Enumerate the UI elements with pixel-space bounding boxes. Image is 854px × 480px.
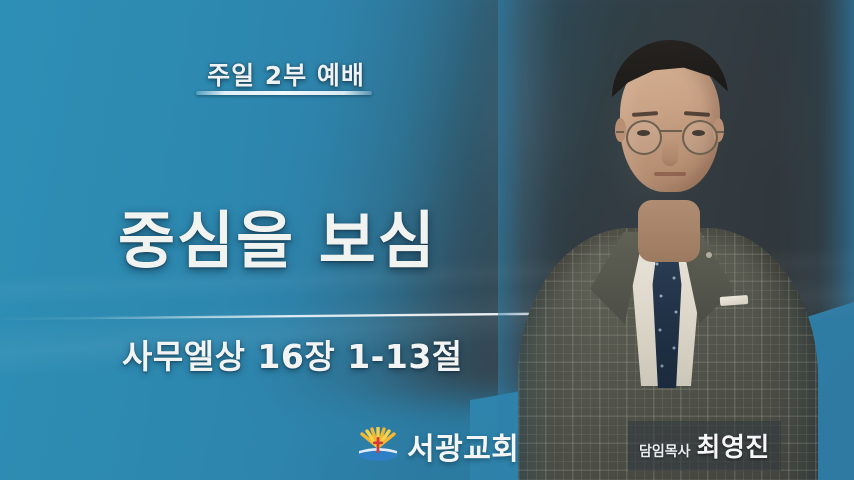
- glasses-temple-left: [616, 131, 624, 133]
- lapel-pin-icon: [706, 252, 712, 258]
- glasses-temple-right: [716, 131, 724, 133]
- speaker-neck: [638, 200, 700, 262]
- speaker-mouth: [654, 172, 686, 176]
- speaker-portrait: [498, 0, 854, 480]
- glasses-lens-right: [682, 120, 718, 155]
- speaker-name-band: 담임목사 최영진: [628, 421, 781, 471]
- sunrise-cross-emblem-icon: [356, 427, 400, 465]
- church-name: 서광교회: [407, 424, 519, 468]
- scripture-reference: 사무엘상 16장 1-13절: [122, 330, 463, 378]
- speaker-name: 최영진: [697, 427, 770, 464]
- service-label: 주일 2부 예배: [196, 56, 376, 92]
- pocket-square: [720, 295, 749, 306]
- service-label-underline: [196, 91, 372, 95]
- speaker-role: 담임목사: [639, 441, 691, 461]
- glasses-bridge: [660, 130, 682, 132]
- church-logo: 서광교회: [356, 424, 519, 468]
- glasses-lens-left: [626, 120, 662, 155]
- sermon-title: 중심을 보심: [118, 190, 437, 280]
- speaker-nose: [662, 140, 678, 166]
- sermon-title-slide: 주일 2부 예배 중심을 보심 사무엘상 16장 1-13절 서광교회 담임목사…: [0, 0, 854, 480]
